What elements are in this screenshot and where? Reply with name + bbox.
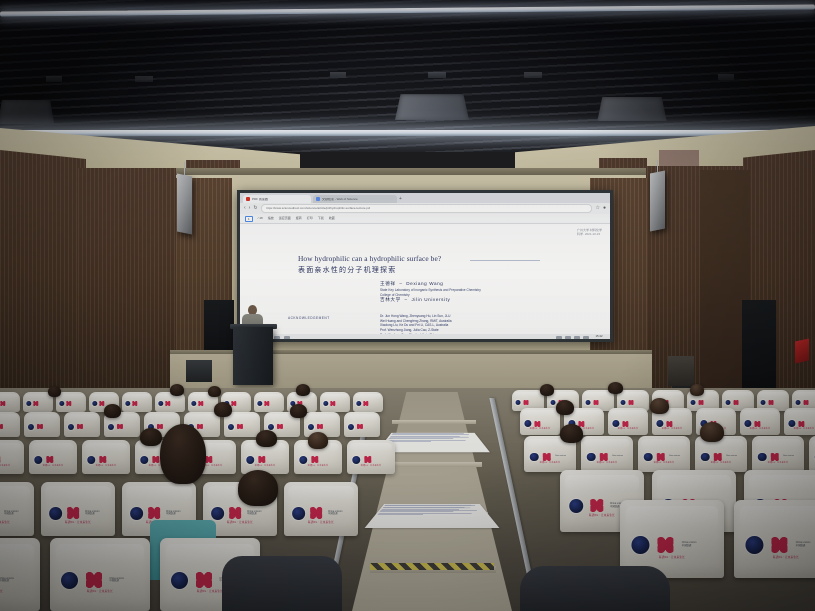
unicom-brand-cn: 中国联通 xyxy=(682,544,692,547)
bookmark-star-icon[interactable]: ☆ xyxy=(595,206,599,211)
seat[interactable]: China unicom 联通5G⁺ 让未来生长 xyxy=(752,436,804,472)
unicom-brand-cn: 中国联通 xyxy=(796,544,806,547)
ime-icon[interactable] xyxy=(583,336,589,340)
ceiling-light-strip xyxy=(0,130,815,136)
seat[interactable] xyxy=(24,412,60,437)
seat-slogan: 联通5G⁺ 让未来生长 xyxy=(96,464,116,467)
unicom-brand-cn: 中国联通 xyxy=(0,579,9,582)
seat-slogan: 联通5G⁺ 让未来生长 xyxy=(662,427,682,430)
seat-slogan: 联通5G⁺ 让未来生长 xyxy=(794,427,814,430)
seat[interactable] xyxy=(122,392,152,412)
unicom-brand-cn: 中国联通 xyxy=(109,579,119,582)
author-name: 王德祥 – Dexiang Wang xyxy=(380,281,481,288)
seat-slogan: 联通5G⁺ 让未来生长 xyxy=(659,555,685,559)
unicom-brand-en: China unicom xyxy=(612,455,623,457)
unicom-brand-cn: 中国联通 xyxy=(247,512,257,515)
seat-slogan: 联通5G⁺ 让未来生长 xyxy=(65,520,91,524)
clock-date: 2021/10/15 xyxy=(592,338,606,340)
seat[interactable] xyxy=(224,412,260,437)
audience-head xyxy=(208,386,221,397)
seat[interactable]: China unicom 中国联通 联通5G⁺ 让未来生长 xyxy=(0,538,40,611)
audience-head xyxy=(214,402,232,417)
seat[interactable] xyxy=(56,392,86,412)
url-text: https://www.sciencedirect.com/science/ar… xyxy=(266,207,371,210)
volume-icon[interactable] xyxy=(565,336,571,340)
fit-page-button[interactable]: 适应页面 xyxy=(279,217,291,220)
seat-slogan: 联通5G⁺ 让未来生长 xyxy=(0,589,3,593)
seat[interactable]: China unicom 中国联通 联通5G⁺ 让未来生长 xyxy=(41,482,115,536)
aisle-step xyxy=(386,462,482,467)
hazard-tape xyxy=(370,563,494,570)
browser-tab-inactive[interactable]: 文献检索 - Web of Science xyxy=(313,195,397,203)
seat[interactable]: China unicom 联通5G⁺ 让未来生长 xyxy=(581,436,633,472)
audience-head xyxy=(308,432,328,449)
university-en: Jilin University xyxy=(411,297,450,302)
audience-head xyxy=(170,384,184,396)
search-icon xyxy=(316,197,320,201)
seat-slogan: 联通5G⁺ 让未来生长 xyxy=(768,461,788,464)
seat[interactable] xyxy=(320,392,350,412)
university-cn: 吉林大学 xyxy=(380,297,401,302)
unicom-brand-en: China unicom xyxy=(555,455,566,457)
audience-head xyxy=(690,384,704,396)
slide-header-line: 科学· 2021-10-15 xyxy=(577,232,602,236)
wall-trim xyxy=(176,168,646,175)
seat[interactable]: China unicom 联通5G⁺ 让未来生长 xyxy=(638,436,690,472)
seat[interactable]: China unicom 中国联通 联通5G⁺ 让未来生长 xyxy=(284,482,358,536)
audience-head xyxy=(650,398,669,414)
aisle-step xyxy=(392,420,476,424)
page-total-label: / 48 xyxy=(258,217,263,220)
seat-slogan: 联通5G⁺ 让未来生长 xyxy=(618,427,638,430)
seat-slogan: 联通5G⁺ 让未来生长 xyxy=(43,464,63,467)
back-icon[interactable]: ‹ xyxy=(244,206,246,211)
unicom-brand-en: China unicom xyxy=(726,455,737,457)
seat-slogan: 联通5G⁺ 让未来生长 xyxy=(654,461,674,464)
print-button[interactable]: 打印 xyxy=(307,217,313,220)
wifi-icon[interactable] xyxy=(556,336,562,340)
reload-icon[interactable]: ↻ xyxy=(253,206,257,211)
taskbar-clock[interactable]: 15:42 2021/10/15 xyxy=(592,335,606,339)
audience-head xyxy=(238,470,278,506)
seat[interactable] xyxy=(344,412,380,437)
unicom-brand-en: China unicom xyxy=(669,455,680,457)
profile-avatar[interactable]: ● xyxy=(603,206,606,211)
unicom-brand-cn: 中国联通 xyxy=(166,512,176,515)
audience-head xyxy=(560,424,583,443)
battery-icon[interactable] xyxy=(574,336,580,340)
seat[interactable]: 联通5G⁺ 让未来生长 xyxy=(0,440,24,474)
seat-slogan: 联通5G⁺ 让未来生长 xyxy=(540,461,560,464)
url-input[interactable]: https://www.sciencedirect.com/science/ar… xyxy=(261,204,593,213)
slide-title-en: How hydrophilic can a hydrophilic surfac… xyxy=(298,254,441,263)
side-wall-left-far xyxy=(0,150,86,399)
door-right[interactable] xyxy=(742,300,776,390)
new-tab-button[interactable]: + xyxy=(399,197,402,203)
seat[interactable]: 联通5G⁺ 让未来生长 xyxy=(347,440,395,474)
seat[interactable] xyxy=(353,392,383,412)
seat-slogan: 联通5G⁺ 让未来生长 xyxy=(227,520,253,524)
audience-head xyxy=(608,382,623,394)
tab-label: PDF 阅读器 xyxy=(252,198,268,201)
tab-label: 文献检索 - Web of Science xyxy=(322,198,358,201)
forward-icon[interactable]: › xyxy=(249,206,251,211)
audience-body xyxy=(520,566,670,611)
slide-title-cn: 表面亲水性的分子机理探索 xyxy=(298,265,396,275)
seat-slogan: 联通5G⁺ 让未来生长 xyxy=(750,427,770,430)
seat[interactable] xyxy=(0,412,20,437)
seat[interactable]: China unicom 中国联通 联通5G⁺ 让未来生长 xyxy=(0,482,34,536)
audience-head xyxy=(556,400,574,415)
seat-slogan: 联通5G⁺ 让未来生长 xyxy=(597,461,617,464)
seat-slogan: 联通5G⁺ 让未来生长 xyxy=(0,520,10,524)
ack-line: Dr. Jun Hong Wang, Zhenyuang Hu, Lin Sun… xyxy=(380,314,452,319)
audience-head xyxy=(540,384,554,396)
browser-address-bar: ‹ › ↻ https://www.sciencedirect.com/scie… xyxy=(240,203,610,214)
seat-slogan: 联通5G⁺ 让未来生长 xyxy=(255,464,275,467)
seat[interactable]: China unicom 中国联通 联通5G⁺ 让未来生长 xyxy=(50,538,150,611)
unicom-brand-cn: 中国联通 xyxy=(85,512,95,515)
zoom-control[interactable]: 缩放 xyxy=(268,217,274,220)
seat[interactable]: 联通5G⁺ 让未来生长 xyxy=(82,440,130,474)
pdf-icon xyxy=(246,197,250,201)
audience-head xyxy=(48,386,61,397)
pdf-icon[interactable] xyxy=(284,336,290,340)
os-taskbar: 15:42 2021/10/15 xyxy=(240,334,610,339)
seat-slogan: 联通5G⁺ 让未来生长 xyxy=(361,464,381,467)
unicom-brand-cn: 中国联通 xyxy=(4,512,14,515)
seat-slogan: 联通5G⁺ 让未来生长 xyxy=(308,464,328,467)
unicom-brand-en: China unicom xyxy=(783,455,794,457)
ceiling xyxy=(0,0,815,152)
confidence-monitor xyxy=(186,360,212,382)
audience-head xyxy=(256,430,277,447)
floor-notice xyxy=(365,504,500,528)
audience-head-foreground xyxy=(160,424,206,484)
seat-slogan: 联通5G⁺ 让未来生长 xyxy=(87,589,113,593)
seat[interactable]: 联通5G⁺ 让未来生长 xyxy=(29,440,77,474)
seat-slogan: 联通5G⁺ 让未来生长 xyxy=(0,464,10,467)
browser-tab-bar: PDF 阅读器 文献检索 - Web of Science + xyxy=(240,193,610,203)
seat[interactable]: 联通5G⁺ 让未来生长 xyxy=(608,408,648,435)
seat[interactable] xyxy=(254,392,284,412)
seat[interactable] xyxy=(64,412,100,437)
audience-head xyxy=(104,404,121,418)
lecture-hall-photo: PDF 阅读器 文献检索 - Web of Science + ‹ › ↻ ht… xyxy=(0,0,815,611)
pdf-toolbar: 1 / 48 缩放 适应页面 旋转 打印 下载 收藏 xyxy=(240,214,610,224)
taskbar-tray: 15:42 2021/10/15 xyxy=(556,335,606,339)
folder-icon[interactable] xyxy=(274,336,280,340)
affiliation-lab: State Key Laboratory of Inorganic Synthe… xyxy=(380,288,481,293)
unicom-brand-cn: 中国联通 xyxy=(610,505,620,508)
seat[interactable]: China unicom 联通5G⁺ 让未来生长 xyxy=(809,436,815,472)
seat-row: China unicom 中国联通 联通5G⁺ 让未来生长 China unic… xyxy=(0,538,260,611)
audience-head xyxy=(296,384,310,396)
browser-tab-active[interactable]: PDF 阅读器 xyxy=(243,195,311,203)
seat[interactable]: China unicom 联通5G⁺ 让未来生长 xyxy=(695,436,747,472)
audience-head xyxy=(290,404,307,418)
rotate-button[interactable]: 旋转 xyxy=(296,217,302,220)
seat[interactable]: 联通5G⁺ 让未来生长 xyxy=(740,408,780,435)
slide-author-block: 王德祥 – Dexiang Wang State Key Laboratory … xyxy=(380,281,481,304)
slide-header: 广州大学·材料化学 科学· 2021-10-15 xyxy=(577,228,602,236)
hanging-speaker-left xyxy=(177,174,192,235)
seat-slogan: 联通5G⁺ 让未来生长 xyxy=(308,520,334,524)
university: 吉林大学 – Jilin University xyxy=(380,297,481,304)
seat[interactable] xyxy=(0,392,20,412)
unicom-brand-cn: 中国联通 xyxy=(328,512,338,515)
seat-slogan: 联通5G⁺ 让未来生长 xyxy=(589,513,615,517)
hanging-speaker-right xyxy=(650,171,665,232)
seat[interactable]: 联通5G⁺ 让未来生长 xyxy=(520,408,560,435)
fire-equipment-sign xyxy=(795,339,809,364)
page-number-input[interactable]: 1 xyxy=(245,216,253,222)
download-button[interactable]: 下载 xyxy=(318,217,324,220)
author-name-en: Dexiang Wang xyxy=(406,281,443,286)
seat-slogan: 联通5G⁺ 让未来生长 xyxy=(530,427,550,430)
acknowledgement-label: ACKNOWLEDGEMENT xyxy=(288,316,330,320)
side-table xyxy=(668,356,694,386)
podium xyxy=(233,327,273,385)
audience-body xyxy=(222,556,342,611)
seat[interactable]: China unicom 中国联通 联通5G⁺ 让未来生长 xyxy=(734,500,815,578)
seat-slogan: 联通5G⁺ 让未来生长 xyxy=(197,589,223,593)
projection-screen-frame: PDF 阅读器 文献检索 - Web of Science + ‹ › ↻ ht… xyxy=(237,190,613,342)
audience-head xyxy=(140,428,162,446)
title-rule xyxy=(470,260,540,261)
seat-slogan: 联通5G⁺ 让未来生长 xyxy=(711,461,731,464)
audience-head xyxy=(700,422,724,442)
pdf-slide-page: 广州大学·材料化学 科学· 2021-10-15 How hydrophilic… xyxy=(240,224,610,339)
bookmark-button[interactable]: 收藏 xyxy=(329,217,335,220)
projection-screen: PDF 阅读器 文献检索 - Web of Science + ‹ › ↻ ht… xyxy=(240,193,610,339)
seat-slogan: 联通5G⁺ 让未来生长 xyxy=(773,555,799,559)
author-name-cn: 王德祥 xyxy=(380,281,396,286)
seat[interactable]: 联通5G⁺ 让未来生长 xyxy=(784,408,815,435)
